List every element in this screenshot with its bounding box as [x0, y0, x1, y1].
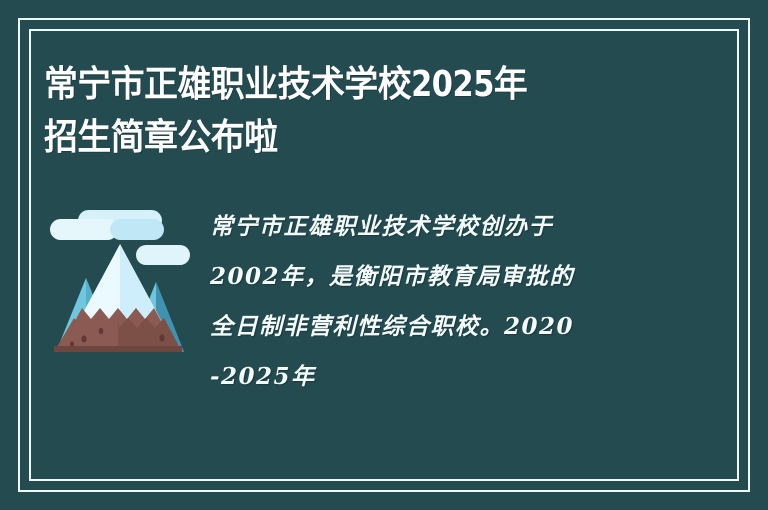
article-body: 常宁市正雄职业技术学校创办于 2002年，是衡阳市教育局审批的 全日制非营利性综… — [210, 196, 718, 402]
page-title-line-1: 常宁市正雄职业技术学校2025年 — [44, 58, 664, 111]
page-title-line-2: 招生简章公布啦 — [44, 111, 664, 164]
body-line-4: -2025年 — [210, 352, 718, 402]
content-row: 常宁市正雄职业技术学校创办于 2002年，是衡阳市教育局审批的 全日制非营利性综… — [44, 196, 718, 402]
page-title: 常宁市正雄职业技术学校2025年 招生简章公布啦 — [44, 58, 704, 164]
mountain-icon — [44, 200, 192, 368]
mountain-illustration-svg — [44, 200, 192, 368]
body-line-3: 全日制非营利性综合职校。2020 — [210, 302, 718, 352]
body-line-2: 2002年，是衡阳市教育局审批的 — [210, 252, 718, 302]
body-line-1: 常宁市正雄职业技术学校创办于 — [210, 202, 718, 252]
article-cover-card: 常宁市正雄职业技术学校2025年 招生简章公布啦 — [0, 0, 768, 510]
